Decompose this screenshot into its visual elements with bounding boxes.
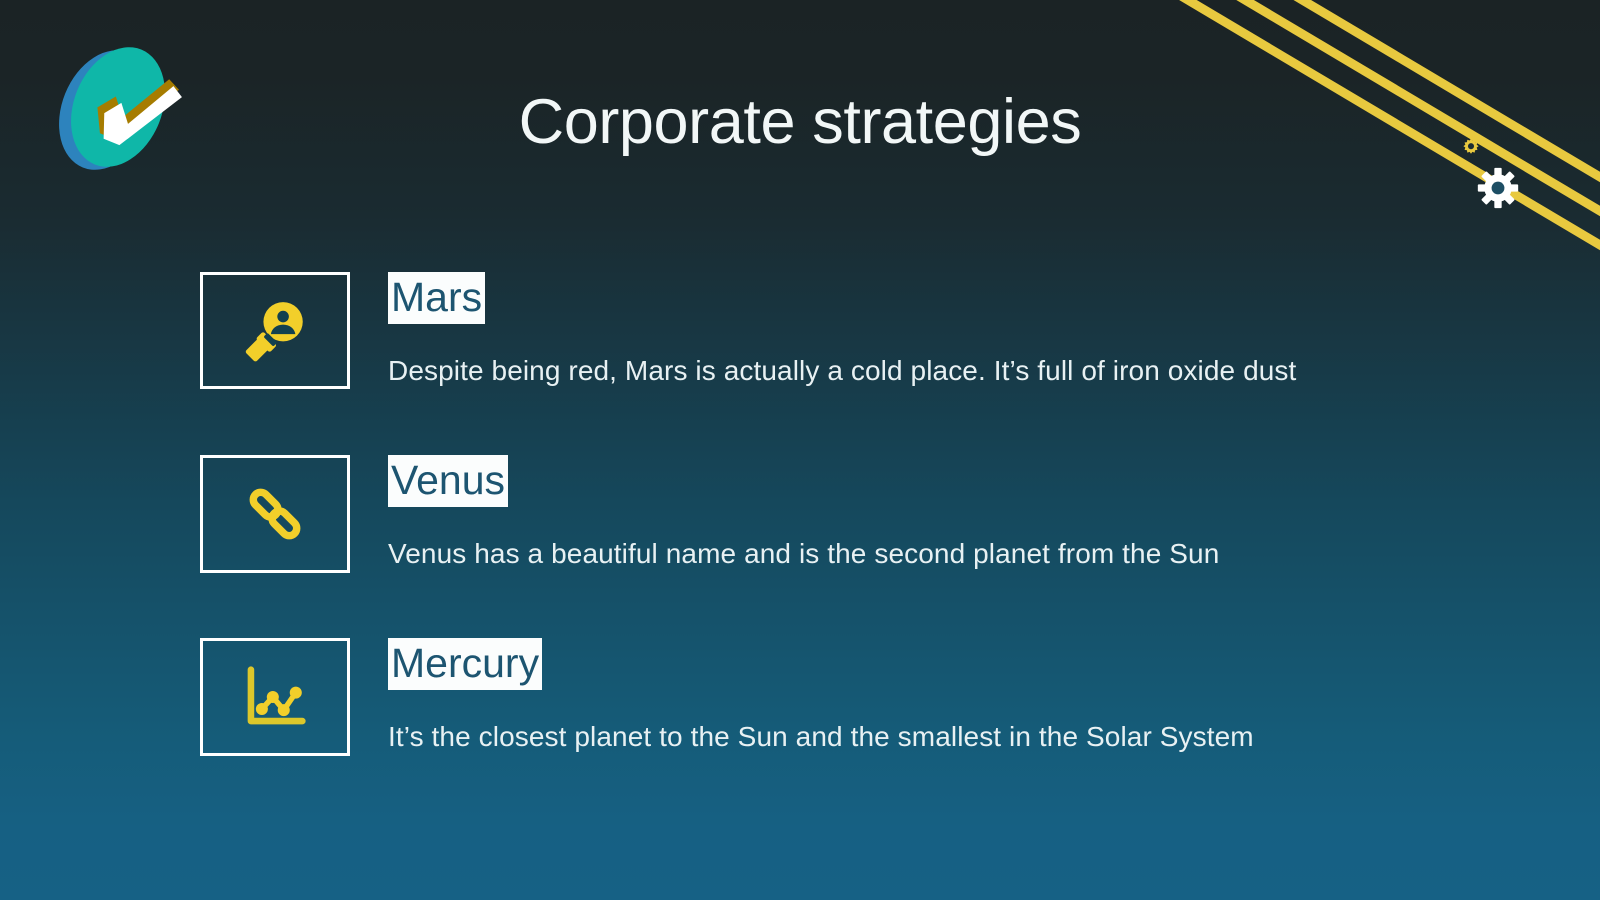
- line-chart-icon: [240, 662, 310, 732]
- item-heading: Venus: [388, 455, 508, 507]
- icon-frame: [200, 638, 350, 756]
- content-list: Mars Despite being red, Mars is actually…: [200, 272, 1540, 821]
- gear-icon: [1460, 136, 1482, 158]
- list-item: Mercury It’s the closest planet to the S…: [200, 638, 1540, 821]
- item-heading: Mercury: [388, 638, 542, 690]
- item-text: Mercury It’s the closest planet to the S…: [388, 638, 1540, 754]
- item-body: Venus has a beautiful name and is the se…: [388, 536, 1540, 571]
- item-text: Mars Despite being red, Mars is actually…: [388, 272, 1540, 388]
- item-body: Despite being red, Mars is actually a co…: [388, 353, 1540, 388]
- item-heading: Mars: [388, 272, 485, 324]
- item-body: It’s the closest planet to the Sun and t…: [388, 719, 1540, 754]
- page-title: Corporate strategies: [0, 88, 1600, 156]
- slide: Corporate strategies: [0, 0, 1600, 900]
- icon-frame: [200, 455, 350, 573]
- gear-icon: [1476, 166, 1520, 210]
- list-item: Mars Despite being red, Mars is actually…: [200, 272, 1540, 455]
- list-item: Venus Venus has a beautiful name and is …: [200, 455, 1540, 638]
- link-chain-icon: [241, 480, 309, 548]
- user-search-icon: [238, 294, 312, 368]
- item-text: Venus Venus has a beautiful name and is …: [388, 455, 1540, 571]
- icon-frame: [200, 272, 350, 389]
